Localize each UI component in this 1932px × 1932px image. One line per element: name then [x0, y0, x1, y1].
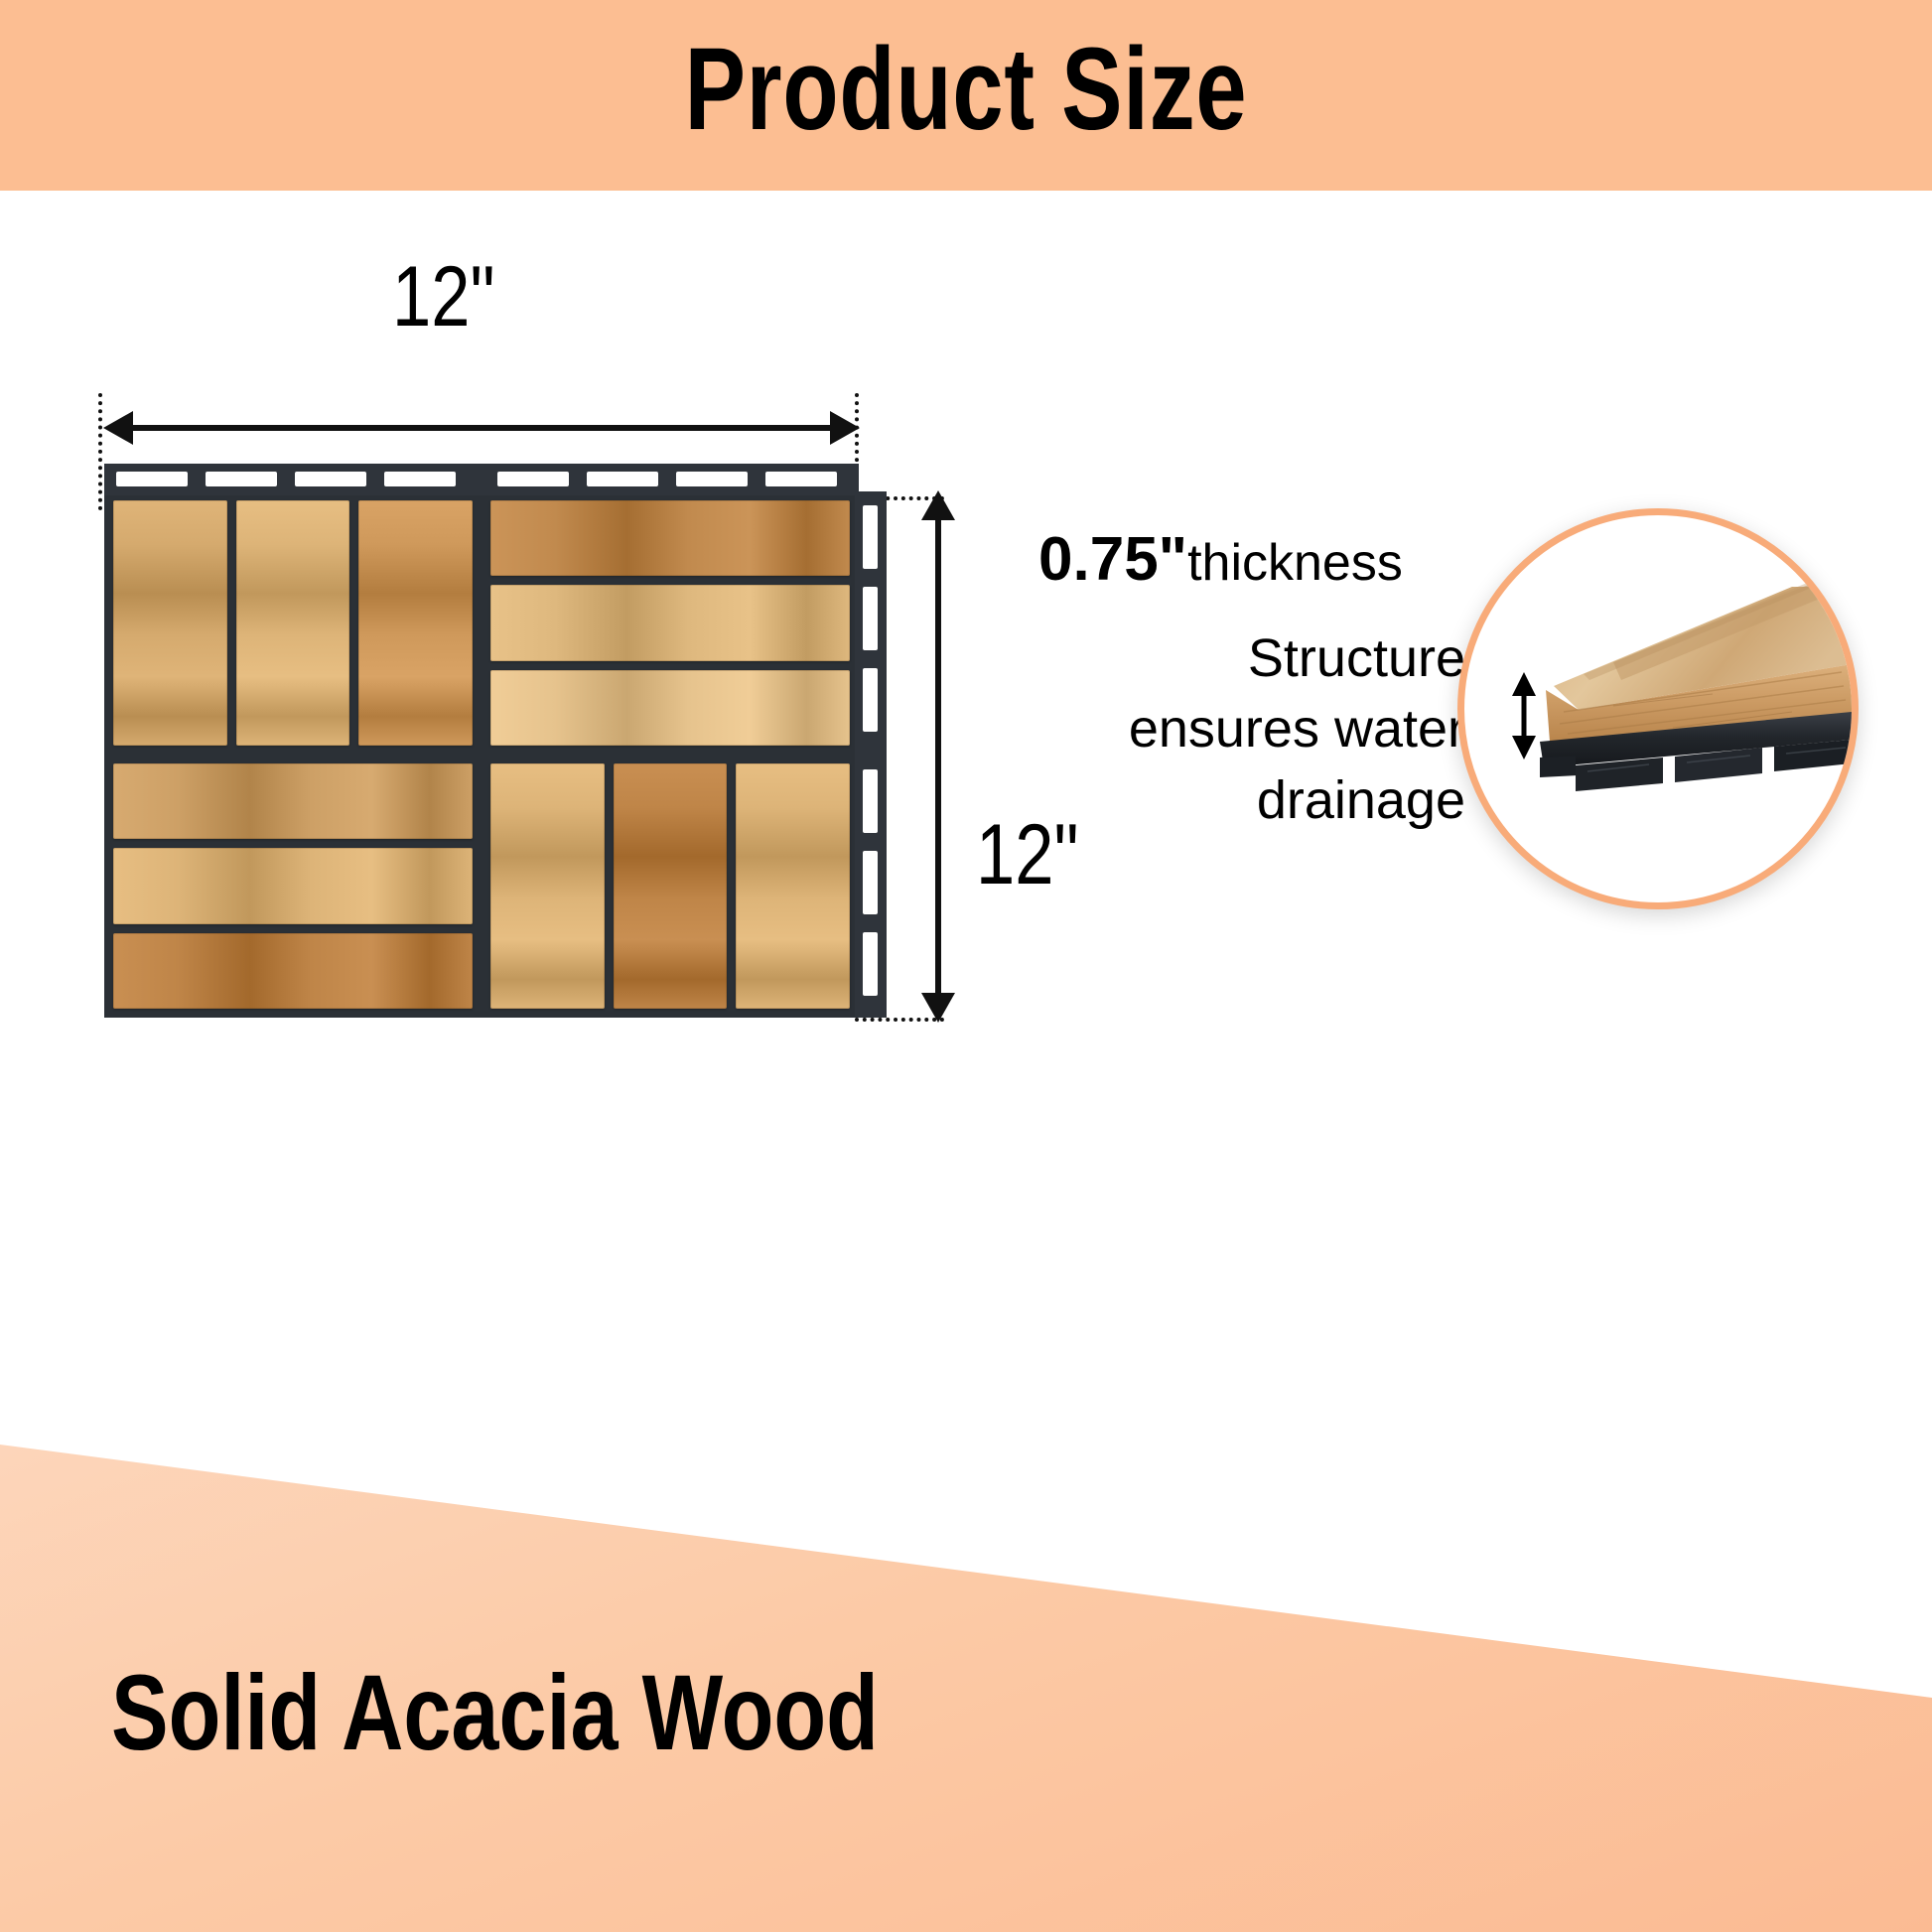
wood-slat: [113, 500, 227, 746]
tile-quadrant-top-left: [104, 491, 482, 755]
connector-slot: [676, 472, 748, 486]
connector-slot: [765, 472, 837, 486]
wood-slat: [358, 500, 473, 746]
wood-slat: [614, 763, 728, 1009]
wood-slat: [490, 670, 850, 746]
thickness-word: thickness: [1187, 534, 1403, 592]
edge-detail-circle: [1457, 508, 1859, 909]
double-arrow-thickness-icon: [1512, 672, 1536, 759]
wood-slat: [113, 933, 473, 1009]
wood-slat: [490, 500, 850, 576]
infographic-canvas: Product Size 12" 12" 0.75"thickness Stru…: [0, 0, 1932, 1932]
footer-title: Solid Acacia Wood: [111, 1656, 879, 1768]
connector-slot: [863, 769, 878, 833]
page-title: Product Size: [212, 24, 1720, 155]
wood-slat: [113, 763, 473, 839]
thickness-callout: 0.75"thickness: [1038, 524, 1495, 595]
drainage-description: Structure ensures water drainage: [1048, 623, 1465, 836]
connector-slot: [497, 472, 569, 486]
connector-slot: [863, 668, 878, 732]
tile-quadrant-bottom-left: [104, 755, 482, 1018]
tile-quadrant-top-right: [482, 491, 859, 755]
connector-slot: [295, 472, 366, 486]
wood-slat: [490, 763, 605, 1009]
connector-slot: [384, 472, 456, 486]
guide-left-vertical: [98, 393, 102, 510]
connector-slot: [587, 472, 658, 486]
wood-slat: [490, 585, 850, 660]
connector-slot: [863, 505, 878, 569]
wood-slat: [236, 500, 350, 746]
tile-edge-side-view: [1464, 515, 1852, 902]
wood-slat: [113, 848, 473, 923]
connector-slot: [206, 472, 277, 486]
connector-slot: [863, 587, 878, 650]
connector-slot: [116, 472, 188, 486]
product-tile-top-view: [104, 491, 859, 1018]
thickness-value: 0.75": [1038, 525, 1187, 594]
dimension-label-width: 12": [392, 254, 494, 340]
